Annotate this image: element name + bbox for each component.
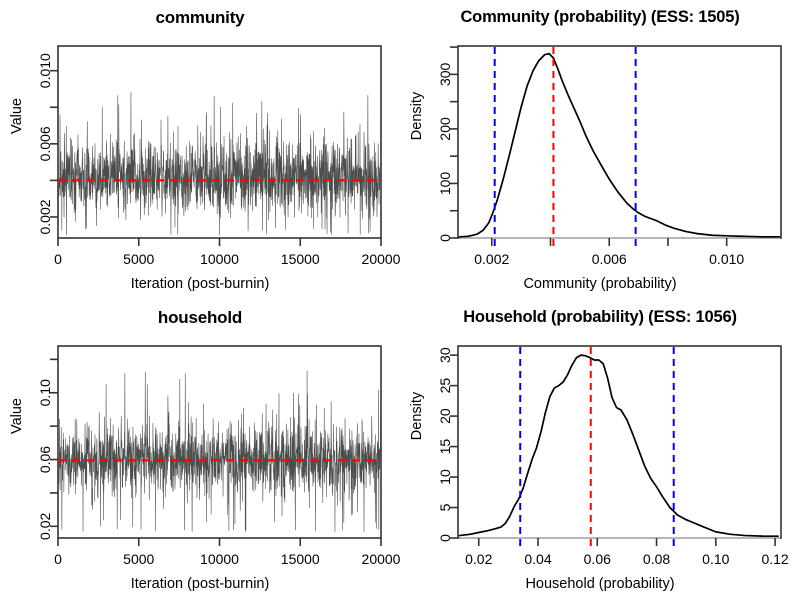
community-trace-plot: 050001000015000200000.0020.0060.010 bbox=[0, 0, 400, 300]
x-tick-label: 5000 bbox=[123, 251, 154, 267]
x-tick-label: 0.08 bbox=[643, 551, 670, 567]
y-tick-label: 30 bbox=[437, 347, 453, 363]
x-tick-label: 0 bbox=[54, 551, 62, 567]
y-tick-label: 0.10 bbox=[37, 379, 53, 406]
y-tick-label: 0.06 bbox=[37, 446, 53, 473]
x-tick-label: 0.002 bbox=[474, 251, 509, 267]
x-tick-label: 5000 bbox=[123, 551, 154, 567]
y-axis-label-household-trace: Value bbox=[9, 366, 25, 466]
x-axis-label-household-trace: Iteration (post-burnin) bbox=[0, 576, 400, 592]
y-axis-label-community-density: Density bbox=[409, 66, 425, 166]
x-tick-label: 0.12 bbox=[761, 551, 788, 567]
trace-line bbox=[58, 92, 381, 235]
y-tick-label: 15 bbox=[437, 439, 453, 455]
x-axis-label-household-density: Household (probability) bbox=[400, 576, 800, 592]
y-tick-label: 5 bbox=[437, 503, 453, 511]
y-tick-label: 0.02 bbox=[37, 512, 53, 539]
y-tick-label: 0 bbox=[437, 534, 453, 542]
x-axis-label-community-trace: Iteration (post-burnin) bbox=[0, 276, 400, 292]
y-tick-label: 300 bbox=[437, 62, 453, 86]
density-curve bbox=[459, 54, 779, 237]
y-tick-label: 0.006 bbox=[37, 126, 53, 161]
y-tick-label: 100 bbox=[437, 172, 453, 196]
x-tick-label: 0.02 bbox=[465, 551, 492, 567]
y-axis-label-community-trace: Value bbox=[9, 66, 25, 166]
y-tick-label: 20 bbox=[437, 408, 453, 424]
x-axis-label-community-density: Community (probability) bbox=[400, 276, 800, 292]
household-trace-plot: 050001000015000200000.020.060.10 bbox=[0, 300, 400, 600]
trace-line bbox=[58, 371, 381, 532]
y-axis-label-household-density: Density bbox=[409, 366, 425, 466]
x-tick-label: 0.04 bbox=[524, 551, 551, 567]
x-tick-label: 20000 bbox=[362, 251, 400, 267]
panel-community-trace: community 050001000015000200000.0020.006… bbox=[0, 0, 400, 300]
x-tick-label: 10000 bbox=[200, 551, 239, 567]
panel-household-trace: household 050001000015000200000.020.060.… bbox=[0, 300, 400, 600]
x-tick-label: 10000 bbox=[200, 251, 239, 267]
y-tick-label: 10 bbox=[437, 469, 453, 485]
mcmc-diagnostic-figure: community 050001000015000200000.0020.006… bbox=[0, 0, 800, 600]
y-tick-label: 200 bbox=[437, 117, 453, 141]
plot-frame bbox=[458, 46, 781, 238]
panel-community-density: Community (probability) (ESS: 1505) 0.00… bbox=[400, 0, 800, 300]
x-tick-label: 0.10 bbox=[702, 551, 729, 567]
x-tick-label: 0 bbox=[54, 251, 62, 267]
x-tick-label: 0.006 bbox=[592, 251, 627, 267]
x-tick-label: 0.010 bbox=[709, 251, 744, 267]
plot-frame bbox=[458, 346, 781, 538]
community-density-plot: 0.0020.0060.0100100200300 bbox=[400, 0, 800, 300]
density-curve bbox=[459, 355, 778, 536]
x-tick-label: 15000 bbox=[281, 551, 320, 567]
x-tick-label: 0.06 bbox=[584, 551, 611, 567]
y-tick-label: 25 bbox=[437, 378, 453, 394]
x-tick-label: 20000 bbox=[362, 551, 400, 567]
x-tick-label: 15000 bbox=[281, 251, 320, 267]
y-tick-label: 0.010 bbox=[37, 53, 53, 88]
y-tick-label: 0.002 bbox=[37, 199, 53, 234]
panel-household-density: Household (probability) (ESS: 1056) 0.02… bbox=[400, 300, 800, 600]
y-tick-label: 0 bbox=[437, 234, 453, 242]
household-density-plot: 0.020.040.060.080.100.12051015202530 bbox=[400, 300, 800, 600]
